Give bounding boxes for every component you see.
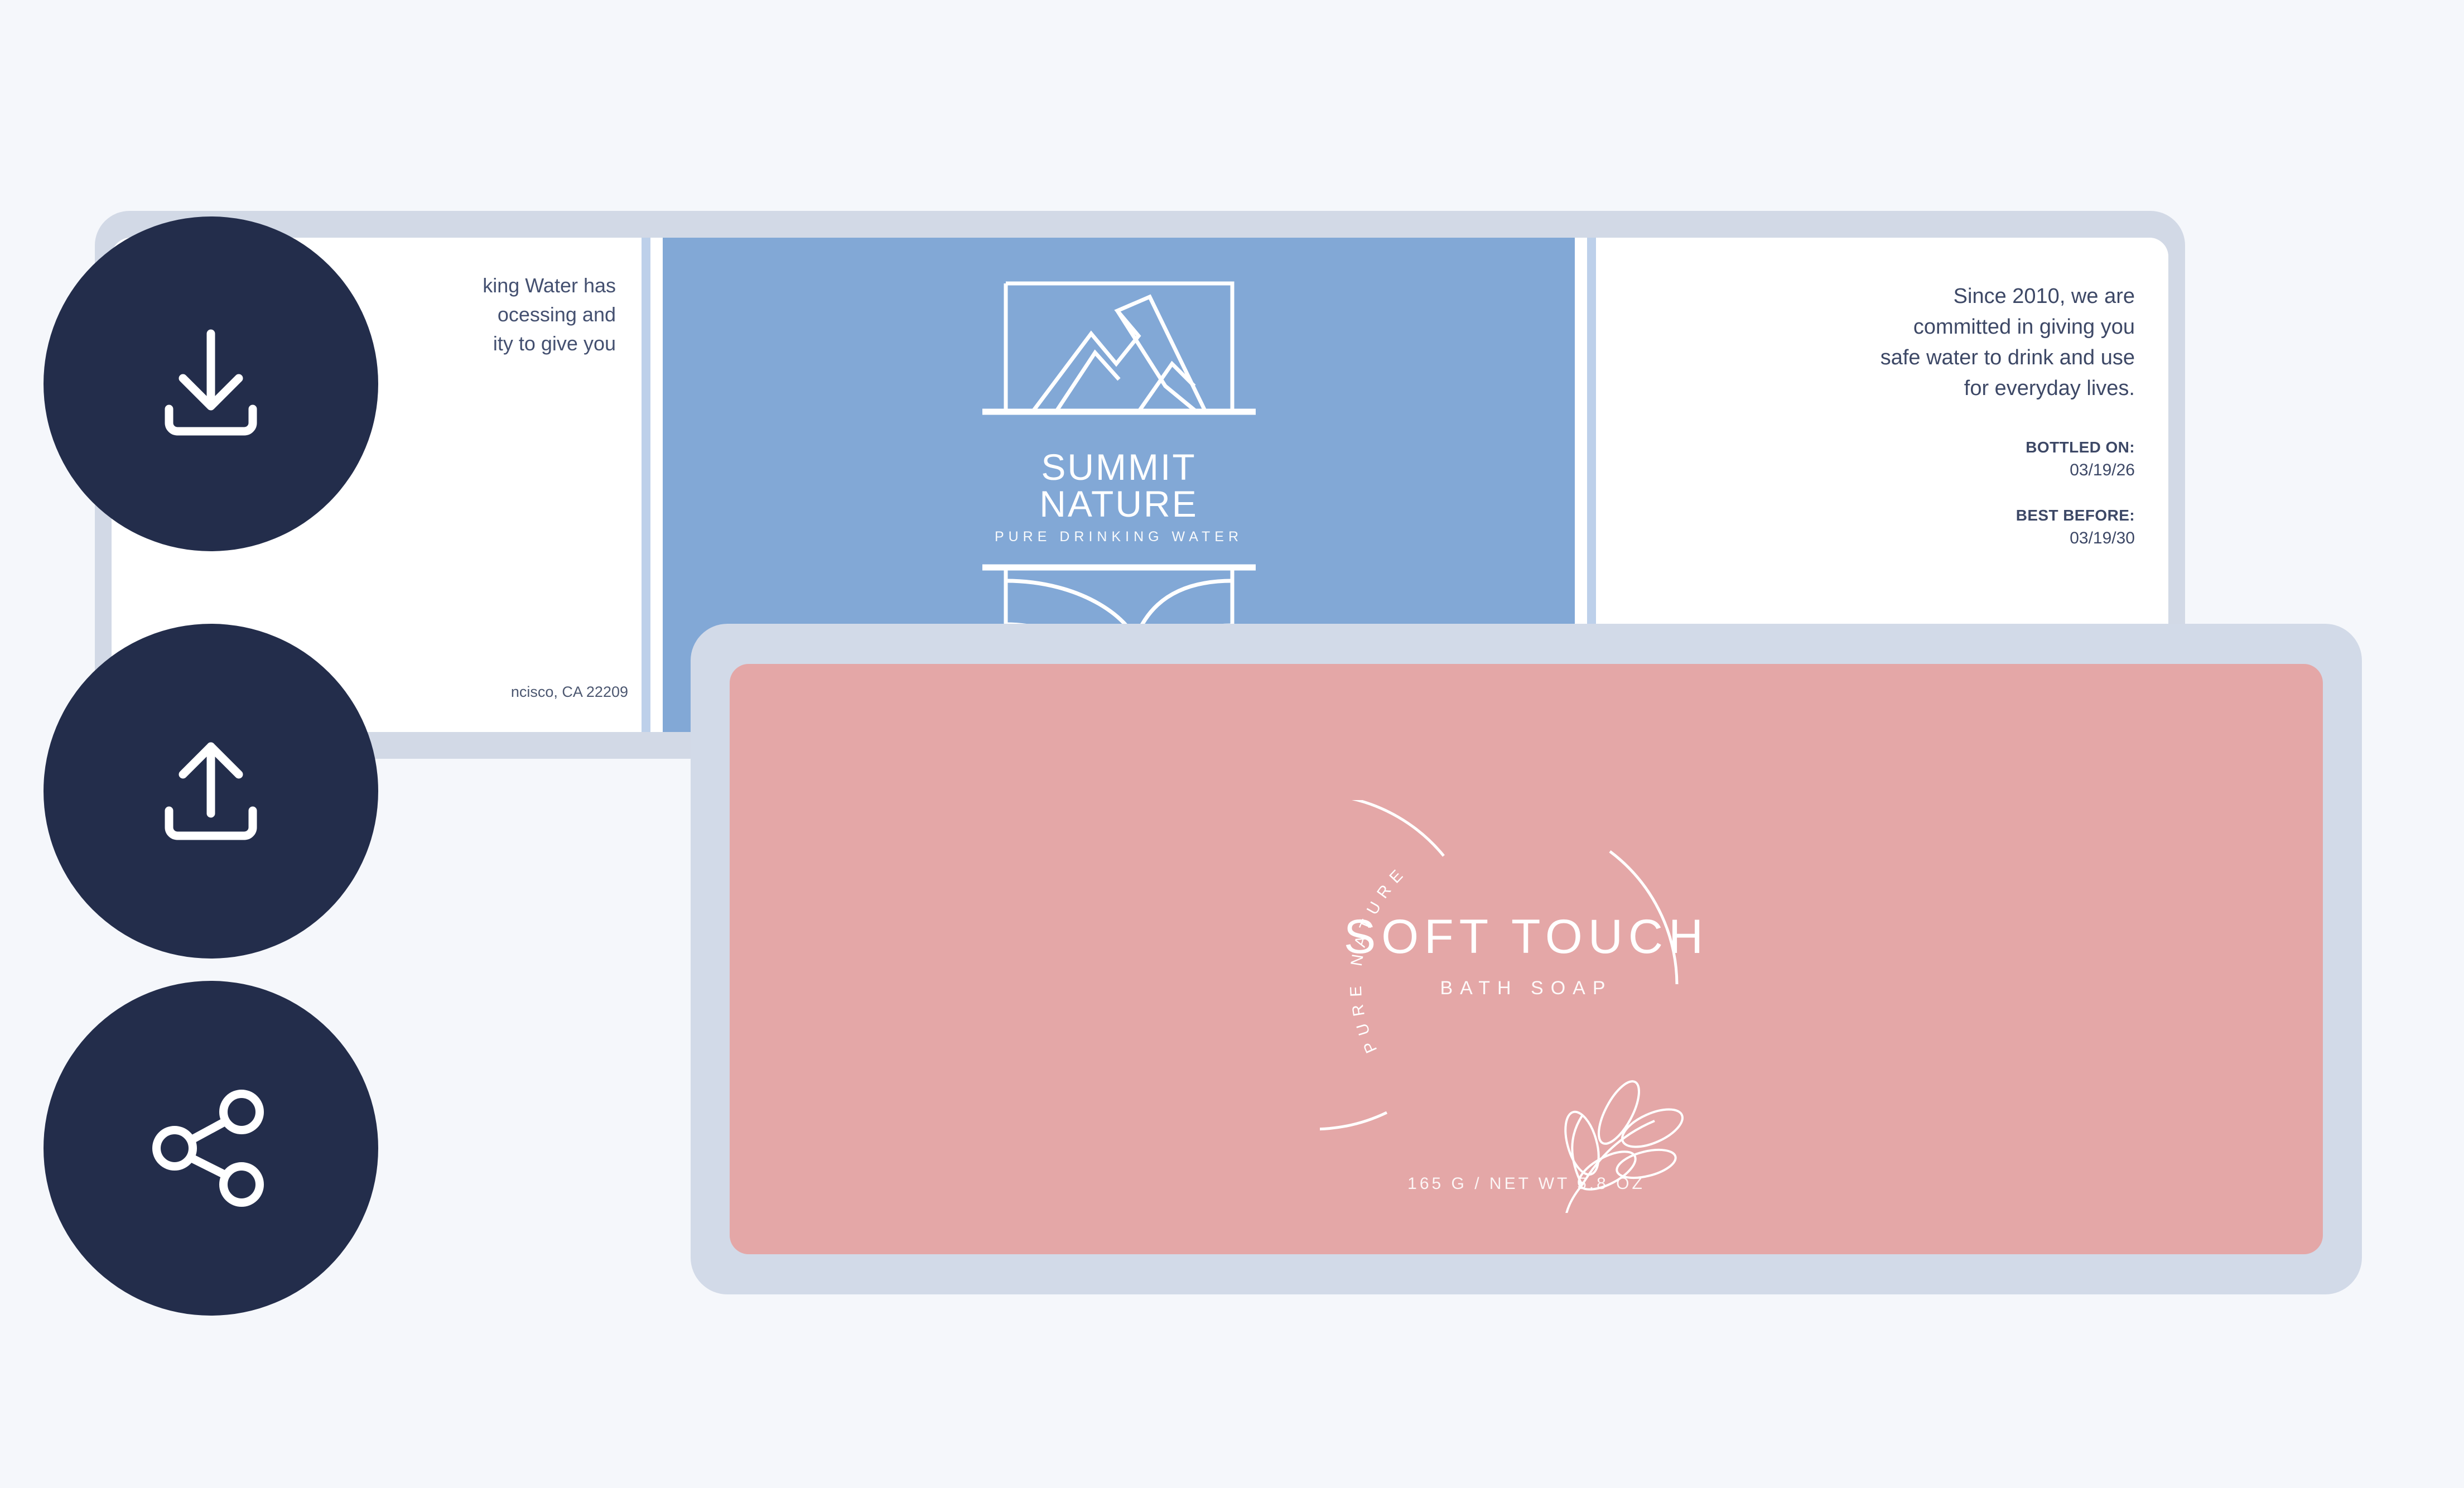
soap-title: SOFT TOUCH	[1344, 909, 1709, 965]
share-button[interactable]	[44, 981, 378, 1316]
bottled-on-block: BOTTLED ON: 03/19/26	[1822, 439, 2135, 480]
upload-button[interactable]	[44, 624, 378, 959]
brand-tagline: PURE DRINKING WATER	[963, 530, 1275, 544]
best-before-label: BEST BEFORE:	[1822, 507, 2135, 524]
download-icon	[141, 314, 281, 454]
soap-artwork: PURE NATURE SOFT TOUCH BATH SOAP 165 G /…	[730, 664, 2323, 1254]
bottled-on-label: BOTTLED ON:	[1822, 439, 2135, 456]
panel-gap-left	[650, 238, 663, 732]
right-body-line-1: Since 2010, we are	[1822, 281, 2135, 312]
brand-name: SUMMIT NATURE	[963, 449, 1275, 522]
mountain-logo-icon	[971, 280, 1267, 447]
soap-label-card[interactable]: PURE NATURE SOFT TOUCH BATH SOAP 165 G /…	[691, 624, 2362, 1294]
water-label-right-body: Since 2010, we are committed in giving y…	[1822, 281, 2135, 404]
soap-net-weight: 165 G / NET WT 5.8 OZ	[1407, 1174, 1645, 1193]
right-body-line-2: committed in giving you	[1822, 312, 2135, 343]
download-button[interactable]	[44, 216, 378, 551]
share-icon	[141, 1078, 281, 1218]
best-before-block: BEST BEFORE: 03/19/30	[1822, 507, 2135, 548]
upload-icon	[141, 721, 281, 861]
bottled-on-value: 03/19/26	[1822, 461, 2135, 480]
date-stamps: BOTTLED ON: 03/19/26 BEST BEFORE: 03/19/…	[1822, 439, 2135, 548]
best-before-value: 03/19/30	[1822, 529, 2135, 548]
soap-subtitle: BATH SOAP	[1440, 977, 1612, 999]
soap-ring-graphic: PURE NATURE	[1320, 800, 1733, 1213]
soap-label-canvas: PURE NATURE SOFT TOUCH BATH SOAP 165 G /…	[730, 664, 2323, 1254]
right-body-line-3: safe water to drink and use	[1822, 343, 2135, 373]
panel-divider-left	[642, 238, 650, 732]
right-body-line-4: for everyday lives.	[1822, 373, 2135, 404]
